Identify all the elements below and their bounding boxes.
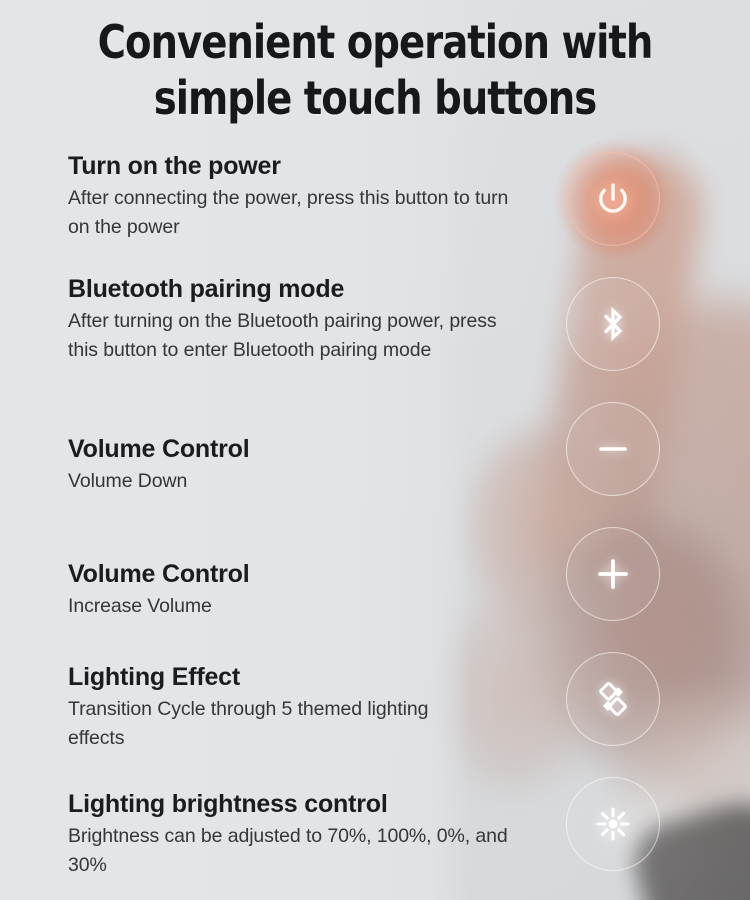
touch-button-volume-down[interactable]: [566, 402, 660, 496]
feature-block-bluetooth: Bluetooth pairing mode After turning on …: [68, 274, 528, 365]
lighting-effect-icon: [593, 679, 633, 719]
feature-block-volume-up: Volume Control Increase Volume: [68, 559, 518, 621]
plus-icon: [591, 552, 635, 596]
feature-heading: Lighting brightness control: [68, 789, 520, 819]
feature-heading: Turn on the power: [68, 151, 518, 181]
feature-block-brightness: Lighting brightness control Brightness c…: [68, 789, 520, 880]
touch-button-lighting-effect[interactable]: [566, 652, 660, 746]
page-title: Convenient operation with simple touch b…: [60, 14, 690, 126]
touch-button-brightness[interactable]: [566, 777, 660, 871]
feature-block-power: Turn on the power After connecting the p…: [68, 151, 518, 242]
page-title-line-2: simple touch buttons: [60, 70, 690, 126]
feature-block-volume-down: Volume Control Volume Down: [68, 434, 518, 496]
touch-button-volume-up[interactable]: [566, 527, 660, 621]
feature-heading: Lighting Effect: [68, 662, 468, 692]
minus-icon: [591, 427, 635, 471]
feature-description: After connecting the power, press this b…: [68, 184, 518, 242]
touch-button-power[interactable]: [566, 152, 660, 246]
infographic-stage: Convenient operation with simple touch b…: [0, 0, 750, 900]
feature-description: Volume Down: [68, 467, 518, 496]
feature-heading: Bluetooth pairing mode: [68, 274, 528, 304]
feature-heading: Volume Control: [68, 559, 518, 589]
feature-description: After turning on the Bluetooth pairing p…: [68, 307, 528, 365]
feature-block-lighting-effect: Lighting Effect Transition Cycle through…: [68, 662, 468, 753]
feature-description: Transition Cycle through 5 themed lighti…: [68, 695, 468, 753]
bluetooth-icon: [593, 304, 633, 344]
page-title-line-1: Convenient operation with: [60, 14, 690, 70]
power-icon: [592, 178, 634, 220]
touch-button-bluetooth[interactable]: [566, 277, 660, 371]
feature-description: Increase Volume: [68, 592, 518, 621]
feature-heading: Volume Control: [68, 434, 518, 464]
feature-description: Brightness can be adjusted to 70%, 100%,…: [68, 822, 520, 880]
brightness-icon: [592, 803, 634, 845]
